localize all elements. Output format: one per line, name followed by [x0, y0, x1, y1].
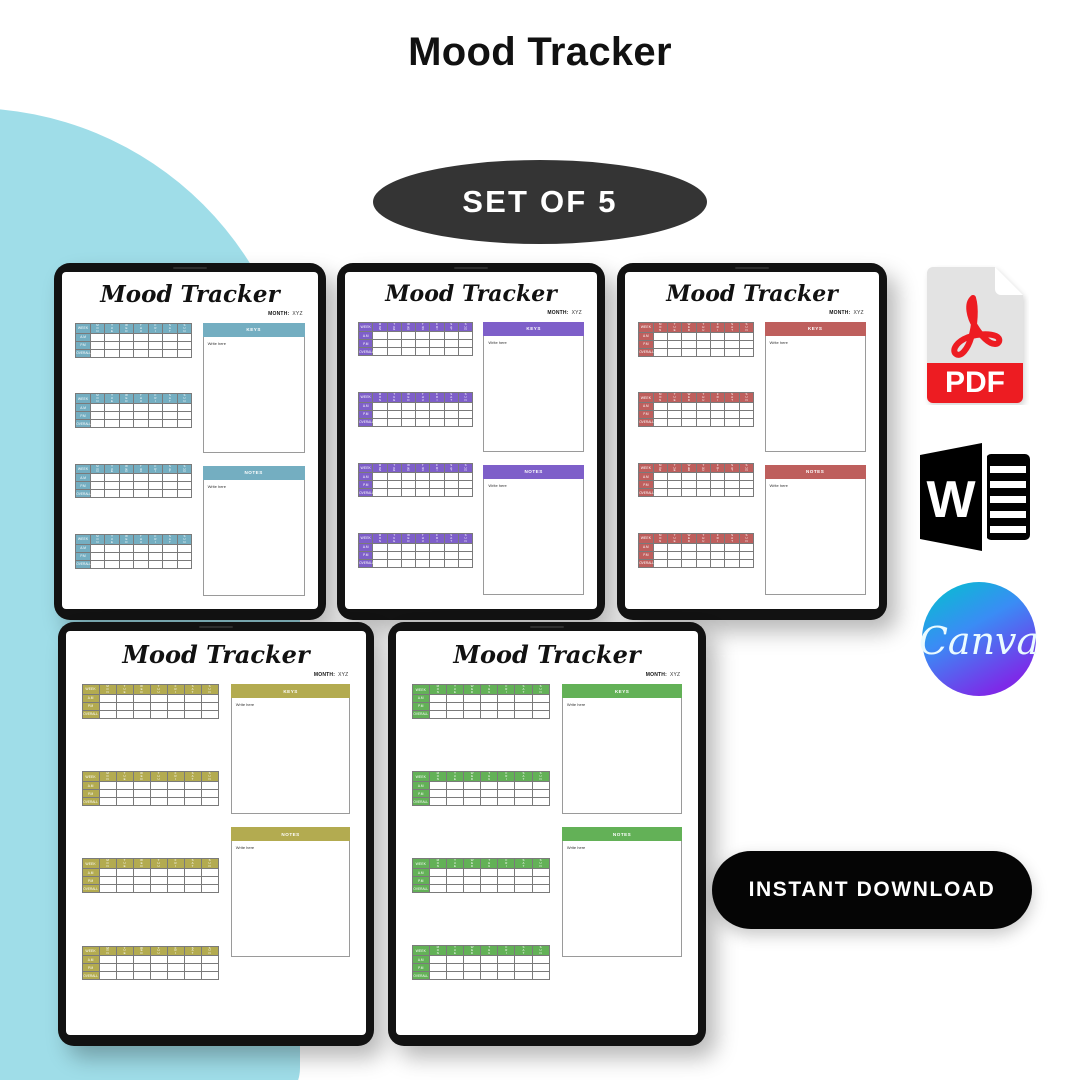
- mood-cell[interactable]: [711, 551, 725, 559]
- mood-cell[interactable]: [682, 559, 696, 567]
- mood-cell[interactable]: [481, 972, 498, 980]
- mood-cell[interactable]: [373, 559, 387, 567]
- mood-cell[interactable]: [444, 340, 458, 348]
- month-field[interactable]: MONTH:XYZ: [82, 672, 351, 678]
- mood-cell[interactable]: [498, 702, 515, 710]
- mood-cell[interactable]: [446, 782, 463, 790]
- mood-cell[interactable]: [444, 481, 458, 489]
- mood-cell[interactable]: [429, 702, 446, 710]
- mood-cell[interactable]: [430, 489, 444, 497]
- mood-cell[interactable]: [148, 552, 162, 560]
- mood-cell[interactable]: [133, 885, 150, 893]
- mood-cell[interactable]: [116, 956, 133, 964]
- mood-cell[interactable]: [116, 782, 133, 790]
- mood-cell[interactable]: [119, 333, 133, 341]
- mood-cell[interactable]: [416, 402, 430, 410]
- mood-cell[interactable]: [446, 964, 463, 972]
- notes-panel-text[interactable]: Write here: [483, 479, 584, 595]
- mood-cell[interactable]: [150, 798, 167, 806]
- mood-cell[interactable]: [116, 972, 133, 980]
- mood-cell[interactable]: [184, 798, 201, 806]
- mood-cell[interactable]: [150, 702, 167, 710]
- mood-cell[interactable]: [148, 404, 162, 412]
- mood-cell[interactable]: [133, 877, 150, 885]
- mood-cell[interactable]: [134, 552, 148, 560]
- mood-cell[interactable]: [105, 349, 119, 357]
- mood-cell[interactable]: [133, 710, 150, 718]
- mood-cell[interactable]: [458, 410, 472, 418]
- mood-cell[interactable]: [696, 559, 710, 567]
- mood-cell[interactable]: [444, 489, 458, 497]
- mood-cell[interactable]: [696, 543, 710, 551]
- mood-cell[interactable]: [201, 964, 218, 972]
- mood-cell[interactable]: [498, 710, 515, 718]
- mood-cell[interactable]: [481, 798, 498, 806]
- mood-cell[interactable]: [739, 410, 753, 418]
- mood-cell[interactable]: [498, 956, 515, 964]
- mood-cell[interactable]: [446, 798, 463, 806]
- mood-cell[interactable]: [133, 869, 150, 877]
- mood-cell[interactable]: [373, 348, 387, 356]
- mood-cell[interactable]: [373, 418, 387, 426]
- mood-cell[interactable]: [446, 972, 463, 980]
- mood-cell[interactable]: [150, 869, 167, 877]
- mood-cell[interactable]: [401, 410, 415, 418]
- mood-cell[interactable]: [150, 877, 167, 885]
- mood-cell[interactable]: [532, 964, 549, 972]
- mood-cell[interactable]: [373, 489, 387, 497]
- mood-cell[interactable]: [416, 418, 430, 426]
- mood-cell[interactable]: [498, 869, 515, 877]
- mood-cell[interactable]: [167, 710, 184, 718]
- mood-cell[interactable]: [163, 544, 177, 552]
- mood-cell[interactable]: [201, 956, 218, 964]
- mood-cell[interactable]: [429, 877, 446, 885]
- mood-cell[interactable]: [167, 702, 184, 710]
- mood-cell[interactable]: [430, 410, 444, 418]
- mood-cell[interactable]: [458, 489, 472, 497]
- mood-cell[interactable]: [105, 490, 119, 498]
- mood-cell[interactable]: [167, 782, 184, 790]
- mood-cell[interactable]: [696, 473, 710, 481]
- mood-cell[interactable]: [739, 402, 753, 410]
- mood-cell[interactable]: [401, 332, 415, 340]
- notes-panel-text[interactable]: Write here: [562, 841, 682, 957]
- mood-cell[interactable]: [481, 869, 498, 877]
- mood-cell[interactable]: [430, 402, 444, 410]
- mood-cell[interactable]: [444, 551, 458, 559]
- mood-cell[interactable]: [444, 473, 458, 481]
- mood-cell[interactable]: [739, 332, 753, 340]
- notes-panel-text[interactable]: Write here: [765, 479, 866, 595]
- month-field[interactable]: MONTH:XYZ: [75, 311, 304, 317]
- mood-cell[interactable]: [387, 340, 401, 348]
- mood-cell[interactable]: [682, 489, 696, 497]
- mood-cell[interactable]: [515, 972, 532, 980]
- mood-cell[interactable]: [498, 877, 515, 885]
- mood-cell[interactable]: [150, 782, 167, 790]
- mood-cell[interactable]: [739, 348, 753, 356]
- mood-cell[interactable]: [481, 877, 498, 885]
- instant-download-button[interactable]: INSTANT DOWNLOAD: [712, 851, 1032, 929]
- mood-cell[interactable]: [148, 482, 162, 490]
- mood-cell[interactable]: [429, 790, 446, 798]
- mood-cell[interactable]: [134, 333, 148, 341]
- mood-cell[interactable]: [133, 956, 150, 964]
- mood-cell[interactable]: [653, 489, 667, 497]
- mood-cell[interactable]: [163, 474, 177, 482]
- mood-cell[interactable]: [163, 482, 177, 490]
- mood-cell[interactable]: [653, 410, 667, 418]
- mood-cell[interactable]: [711, 489, 725, 497]
- mood-cell[interactable]: [481, 782, 498, 790]
- mood-cell[interactable]: [134, 341, 148, 349]
- mood-cell[interactable]: [498, 885, 515, 893]
- mood-cell[interactable]: [429, 782, 446, 790]
- mood-cell[interactable]: [739, 481, 753, 489]
- mood-cell[interactable]: [134, 474, 148, 482]
- mood-cell[interactable]: [119, 482, 133, 490]
- mood-cell[interactable]: [201, 702, 218, 710]
- mood-cell[interactable]: [373, 551, 387, 559]
- mood-cell[interactable]: [387, 410, 401, 418]
- mood-cell[interactable]: [105, 404, 119, 412]
- mood-cell[interactable]: [116, 790, 133, 798]
- mood-cell[interactable]: [430, 473, 444, 481]
- mood-cell[interactable]: [464, 798, 481, 806]
- mood-cell[interactable]: [201, 790, 218, 798]
- mood-cell[interactable]: [515, 956, 532, 964]
- mood-cell[interactable]: [105, 560, 119, 568]
- month-field[interactable]: MONTH:XYZ: [638, 310, 866, 316]
- mood-cell[interactable]: [134, 490, 148, 498]
- mood-cell[interactable]: [90, 482, 104, 490]
- mood-cell[interactable]: [446, 885, 463, 893]
- mood-cell[interactable]: [696, 348, 710, 356]
- mood-cell[interactable]: [458, 340, 472, 348]
- mood-cell[interactable]: [148, 474, 162, 482]
- mood-cell[interactable]: [532, 710, 549, 718]
- keys-panel-text[interactable]: Write here: [483, 336, 584, 452]
- mood-cell[interactable]: [667, 473, 681, 481]
- keys-panel-text[interactable]: Write here: [562, 698, 682, 814]
- mood-cell[interactable]: [119, 552, 133, 560]
- mood-cell[interactable]: [739, 418, 753, 426]
- mood-cell[interactable]: [515, 964, 532, 972]
- mood-cell[interactable]: [387, 489, 401, 497]
- mood-cell[interactable]: [134, 349, 148, 357]
- mood-cell[interactable]: [532, 869, 549, 877]
- mood-cell[interactable]: [532, 790, 549, 798]
- mood-cell[interactable]: [416, 332, 430, 340]
- mood-cell[interactable]: [515, 702, 532, 710]
- mood-cell[interactable]: [429, 972, 446, 980]
- mood-cell[interactable]: [90, 420, 104, 428]
- mood-cell[interactable]: [184, 702, 201, 710]
- mood-cell[interactable]: [148, 349, 162, 357]
- mood-cell[interactable]: [134, 404, 148, 412]
- mood-cell[interactable]: [163, 420, 177, 428]
- mood-cell[interactable]: [739, 340, 753, 348]
- mood-cell[interactable]: [134, 420, 148, 428]
- mood-cell[interactable]: [739, 559, 753, 567]
- mood-cell[interactable]: [458, 418, 472, 426]
- notes-panel-text[interactable]: Write here: [231, 841, 351, 957]
- mood-cell[interactable]: [464, 710, 481, 718]
- mood-cell[interactable]: [167, 798, 184, 806]
- mood-cell[interactable]: [653, 418, 667, 426]
- mood-cell[interactable]: [116, 869, 133, 877]
- mood-cell[interactable]: [667, 340, 681, 348]
- mood-cell[interactable]: [711, 410, 725, 418]
- mood-cell[interactable]: [148, 560, 162, 568]
- mood-cell[interactable]: [90, 349, 104, 357]
- mood-cell[interactable]: [119, 474, 133, 482]
- mood-cell[interactable]: [99, 694, 116, 702]
- mood-cell[interactable]: [464, 885, 481, 893]
- mood-cell[interactable]: [119, 404, 133, 412]
- mood-cell[interactable]: [416, 348, 430, 356]
- mood-cell[interactable]: [134, 412, 148, 420]
- mood-cell[interactable]: [464, 964, 481, 972]
- mood-cell[interactable]: [653, 402, 667, 410]
- mood-cell[interactable]: [177, 552, 192, 560]
- mood-cell[interactable]: [134, 560, 148, 568]
- mood-cell[interactable]: [177, 420, 192, 428]
- mood-cell[interactable]: [464, 869, 481, 877]
- mood-cell[interactable]: [498, 782, 515, 790]
- mood-cell[interactable]: [667, 543, 681, 551]
- mood-cell[interactable]: [401, 559, 415, 567]
- mood-cell[interactable]: [725, 481, 739, 489]
- mood-cell[interactable]: [667, 418, 681, 426]
- mood-cell[interactable]: [739, 543, 753, 551]
- mood-cell[interactable]: [653, 340, 667, 348]
- mood-cell[interactable]: [105, 552, 119, 560]
- mood-cell[interactable]: [446, 869, 463, 877]
- mood-cell[interactable]: [167, 964, 184, 972]
- mood-cell[interactable]: [682, 481, 696, 489]
- mood-cell[interactable]: [444, 559, 458, 567]
- mood-cell[interactable]: [150, 694, 167, 702]
- mood-cell[interactable]: [464, 972, 481, 980]
- mood-cell[interactable]: [90, 333, 104, 341]
- mood-cell[interactable]: [682, 418, 696, 426]
- mood-cell[interactable]: [119, 560, 133, 568]
- month-field[interactable]: MONTH:XYZ: [412, 672, 683, 678]
- mood-cell[interactable]: [725, 473, 739, 481]
- mood-cell[interactable]: [184, 710, 201, 718]
- mood-cell[interactable]: [116, 877, 133, 885]
- mood-cell[interactable]: [682, 402, 696, 410]
- mood-cell[interactable]: [696, 340, 710, 348]
- mood-cell[interactable]: [481, 956, 498, 964]
- mood-cell[interactable]: [711, 473, 725, 481]
- mood-cell[interactable]: [430, 559, 444, 567]
- mood-cell[interactable]: [430, 332, 444, 340]
- mood-cell[interactable]: [150, 956, 167, 964]
- mood-cell[interactable]: [429, 798, 446, 806]
- mood-cell[interactable]: [150, 885, 167, 893]
- mood-cell[interactable]: [119, 349, 133, 357]
- mood-cell[interactable]: [711, 348, 725, 356]
- mood-cell[interactable]: [105, 482, 119, 490]
- mood-cell[interactable]: [532, 877, 549, 885]
- mood-cell[interactable]: [387, 348, 401, 356]
- mood-cell[interactable]: [401, 543, 415, 551]
- mood-cell[interactable]: [696, 402, 710, 410]
- mood-cell[interactable]: [711, 332, 725, 340]
- mood-cell[interactable]: [99, 798, 116, 806]
- mood-cell[interactable]: [458, 348, 472, 356]
- mood-cell[interactable]: [90, 341, 104, 349]
- mood-cell[interactable]: [725, 410, 739, 418]
- mood-cell[interactable]: [387, 418, 401, 426]
- mood-cell[interactable]: [99, 790, 116, 798]
- mood-cell[interactable]: [163, 404, 177, 412]
- mood-cell[interactable]: [416, 543, 430, 551]
- mood-cell[interactable]: [373, 473, 387, 481]
- mood-cell[interactable]: [682, 332, 696, 340]
- mood-cell[interactable]: [148, 412, 162, 420]
- mood-cell[interactable]: [458, 481, 472, 489]
- mood-cell[interactable]: [653, 473, 667, 481]
- mood-cell[interactable]: [667, 348, 681, 356]
- mood-cell[interactable]: [667, 410, 681, 418]
- mood-cell[interactable]: [725, 340, 739, 348]
- mood-cell[interactable]: [725, 332, 739, 340]
- mood-cell[interactable]: [177, 544, 192, 552]
- mood-cell[interactable]: [682, 551, 696, 559]
- mood-cell[interactable]: [167, 694, 184, 702]
- mood-cell[interactable]: [116, 694, 133, 702]
- mood-cell[interactable]: [416, 559, 430, 567]
- mood-cell[interactable]: [99, 782, 116, 790]
- mood-cell[interactable]: [515, 798, 532, 806]
- mood-cell[interactable]: [446, 956, 463, 964]
- mood-cell[interactable]: [682, 543, 696, 551]
- mood-cell[interactable]: [458, 559, 472, 567]
- mood-cell[interactable]: [725, 402, 739, 410]
- mood-cell[interactable]: [387, 551, 401, 559]
- notes-panel-text[interactable]: Write here: [203, 480, 305, 596]
- mood-cell[interactable]: [116, 885, 133, 893]
- mood-cell[interactable]: [163, 552, 177, 560]
- mood-cell[interactable]: [184, 877, 201, 885]
- mood-cell[interactable]: [498, 694, 515, 702]
- mood-cell[interactable]: [99, 964, 116, 972]
- mood-cell[interactable]: [99, 972, 116, 980]
- mood-cell[interactable]: [682, 340, 696, 348]
- mood-cell[interactable]: [133, 964, 150, 972]
- mood-cell[interactable]: [430, 481, 444, 489]
- mood-cell[interactable]: [90, 560, 104, 568]
- mood-cell[interactable]: [105, 333, 119, 341]
- mood-cell[interactable]: [167, 972, 184, 980]
- mood-cell[interactable]: [458, 402, 472, 410]
- mood-cell[interactable]: [725, 551, 739, 559]
- mood-cell[interactable]: [667, 551, 681, 559]
- mood-cell[interactable]: [387, 402, 401, 410]
- mood-cell[interactable]: [401, 402, 415, 410]
- mood-cell[interactable]: [429, 710, 446, 718]
- mood-cell[interactable]: [177, 474, 192, 482]
- mood-cell[interactable]: [515, 790, 532, 798]
- mood-cell[interactable]: [430, 551, 444, 559]
- keys-panel-text[interactable]: Write here: [231, 698, 351, 814]
- mood-cell[interactable]: [464, 782, 481, 790]
- mood-cell[interactable]: [696, 489, 710, 497]
- mood-cell[interactable]: [696, 418, 710, 426]
- mood-cell[interactable]: [163, 349, 177, 357]
- mood-cell[interactable]: [739, 551, 753, 559]
- mood-cell[interactable]: [667, 481, 681, 489]
- mood-cell[interactable]: [167, 877, 184, 885]
- month-field[interactable]: MONTH:XYZ: [358, 310, 584, 316]
- mood-cell[interactable]: [711, 559, 725, 567]
- mood-cell[interactable]: [401, 473, 415, 481]
- mood-cell[interactable]: [446, 710, 463, 718]
- mood-cell[interactable]: [184, 790, 201, 798]
- mood-cell[interactable]: [444, 402, 458, 410]
- mood-cell[interactable]: [150, 710, 167, 718]
- mood-cell[interactable]: [177, 349, 192, 357]
- mood-cell[interactable]: [116, 702, 133, 710]
- mood-cell[interactable]: [416, 473, 430, 481]
- mood-cell[interactable]: [133, 694, 150, 702]
- mood-cell[interactable]: [90, 412, 104, 420]
- mood-cell[interactable]: [105, 341, 119, 349]
- mood-cell[interactable]: [387, 473, 401, 481]
- mood-cell[interactable]: [416, 410, 430, 418]
- mood-cell[interactable]: [481, 710, 498, 718]
- mood-cell[interactable]: [163, 341, 177, 349]
- mood-cell[interactable]: [429, 956, 446, 964]
- mood-cell[interactable]: [150, 790, 167, 798]
- mood-cell[interactable]: [429, 694, 446, 702]
- mood-cell[interactable]: [184, 694, 201, 702]
- keys-panel-text[interactable]: Write here: [203, 337, 305, 453]
- mood-cell[interactable]: [416, 340, 430, 348]
- mood-cell[interactable]: [725, 489, 739, 497]
- mood-cell[interactable]: [653, 348, 667, 356]
- mood-cell[interactable]: [481, 885, 498, 893]
- mood-cell[interactable]: [90, 552, 104, 560]
- mood-cell[interactable]: [201, 798, 218, 806]
- mood-cell[interactable]: [177, 560, 192, 568]
- mood-cell[interactable]: [90, 544, 104, 552]
- mood-cell[interactable]: [464, 790, 481, 798]
- mood-cell[interactable]: [667, 559, 681, 567]
- mood-cell[interactable]: [464, 877, 481, 885]
- mood-cell[interactable]: [429, 869, 446, 877]
- mood-cell[interactable]: [515, 710, 532, 718]
- mood-cell[interactable]: [498, 798, 515, 806]
- mood-cell[interactable]: [498, 790, 515, 798]
- mood-cell[interactable]: [201, 972, 218, 980]
- mood-cell[interactable]: [515, 782, 532, 790]
- mood-cell[interactable]: [373, 332, 387, 340]
- mood-cell[interactable]: [133, 790, 150, 798]
- mood-cell[interactable]: [444, 410, 458, 418]
- mood-cell[interactable]: [481, 694, 498, 702]
- mood-cell[interactable]: [167, 790, 184, 798]
- mood-cell[interactable]: [401, 489, 415, 497]
- mood-cell[interactable]: [458, 543, 472, 551]
- mood-cell[interactable]: [184, 885, 201, 893]
- mood-cell[interactable]: [446, 702, 463, 710]
- mood-cell[interactable]: [532, 798, 549, 806]
